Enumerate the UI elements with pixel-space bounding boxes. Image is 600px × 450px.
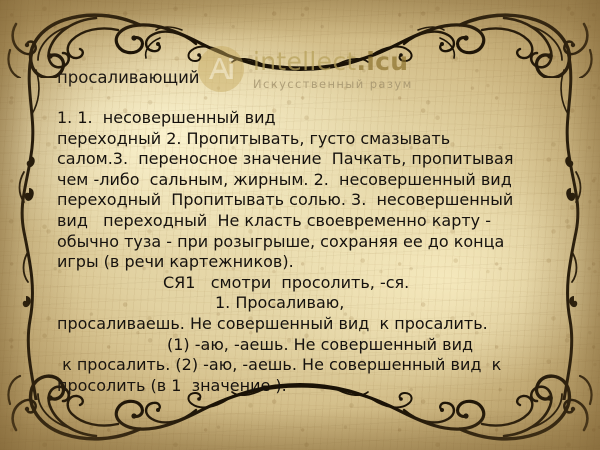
entry-line: вид переходный Не класть своевременно ка… (57, 211, 557, 232)
entry-line: СЯ1 смотри просолить, -ся. (57, 273, 557, 294)
parchment-page: intellect.icu Искусственный разум просал… (0, 0, 600, 450)
entry-line: чем -либо сальным, жирным. 2. несовершен… (57, 170, 557, 191)
entry-line: переходный Пропитывать солью. 3. несовер… (57, 190, 557, 211)
entry-line: салом.3. переносное значение Пачкать, пр… (57, 149, 557, 170)
entry-line: 1. 1. несовершенный вид (57, 108, 557, 129)
entry-line: просаливаешь. Не совершенный вид к проса… (57, 314, 557, 335)
entry-body: 1. 1. несовершенный вид переходный 2. Пр… (57, 108, 557, 396)
dictionary-entry: просаливающий 1. 1. несовершенный вид пе… (0, 0, 600, 450)
entry-headword: просаливающий (57, 68, 200, 87)
entry-line: к просалить. (2) -аю, -аешь. Не совершен… (57, 355, 557, 376)
entry-line: 1. Просаливаю, (57, 293, 557, 314)
entry-line: просолить (в 1 значение ). (57, 376, 557, 397)
entry-line: (1) -аю, -аешь. Не совершенный вид (57, 335, 557, 356)
entry-line: обычно туза - при розыгрыше, сохраняя ее… (57, 232, 557, 253)
entry-line: игры (в речи картежников). (57, 252, 557, 273)
entry-line: переходный 2. Пропитывать, густо смазыва… (57, 129, 557, 150)
